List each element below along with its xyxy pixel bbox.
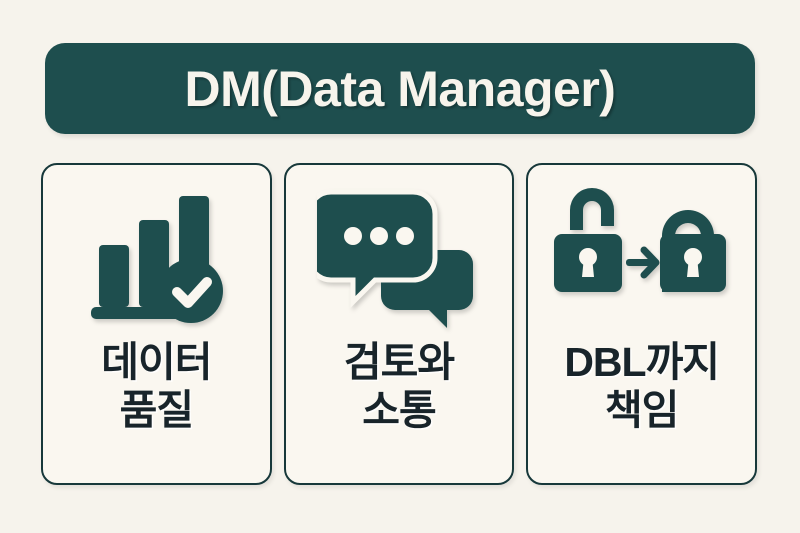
- speech-bubbles-icon: [317, 183, 482, 333]
- card-data-quality[interactable]: 데이터 품질: [41, 163, 272, 485]
- dm-infographic: DM(Data Manager) 데이터 품질: [0, 0, 800, 533]
- card-label: 데이터 품질: [95, 339, 217, 434]
- card-label: DBL까지 책임: [558, 339, 725, 434]
- card-dbl-responsibility[interactable]: DBL까지 책임: [526, 163, 757, 485]
- bar-chart-check-icon: [81, 183, 231, 333]
- card-grid: 데이터 품질 검토와: [41, 163, 757, 485]
- card-review-communication[interactable]: 검토와 소통: [284, 163, 515, 485]
- banner: DM(Data Manager): [45, 43, 755, 134]
- card-label: 검토와 소통: [338, 339, 460, 434]
- page-title: DM(Data Manager): [185, 64, 616, 114]
- lock-transition-icon: [552, 183, 732, 333]
